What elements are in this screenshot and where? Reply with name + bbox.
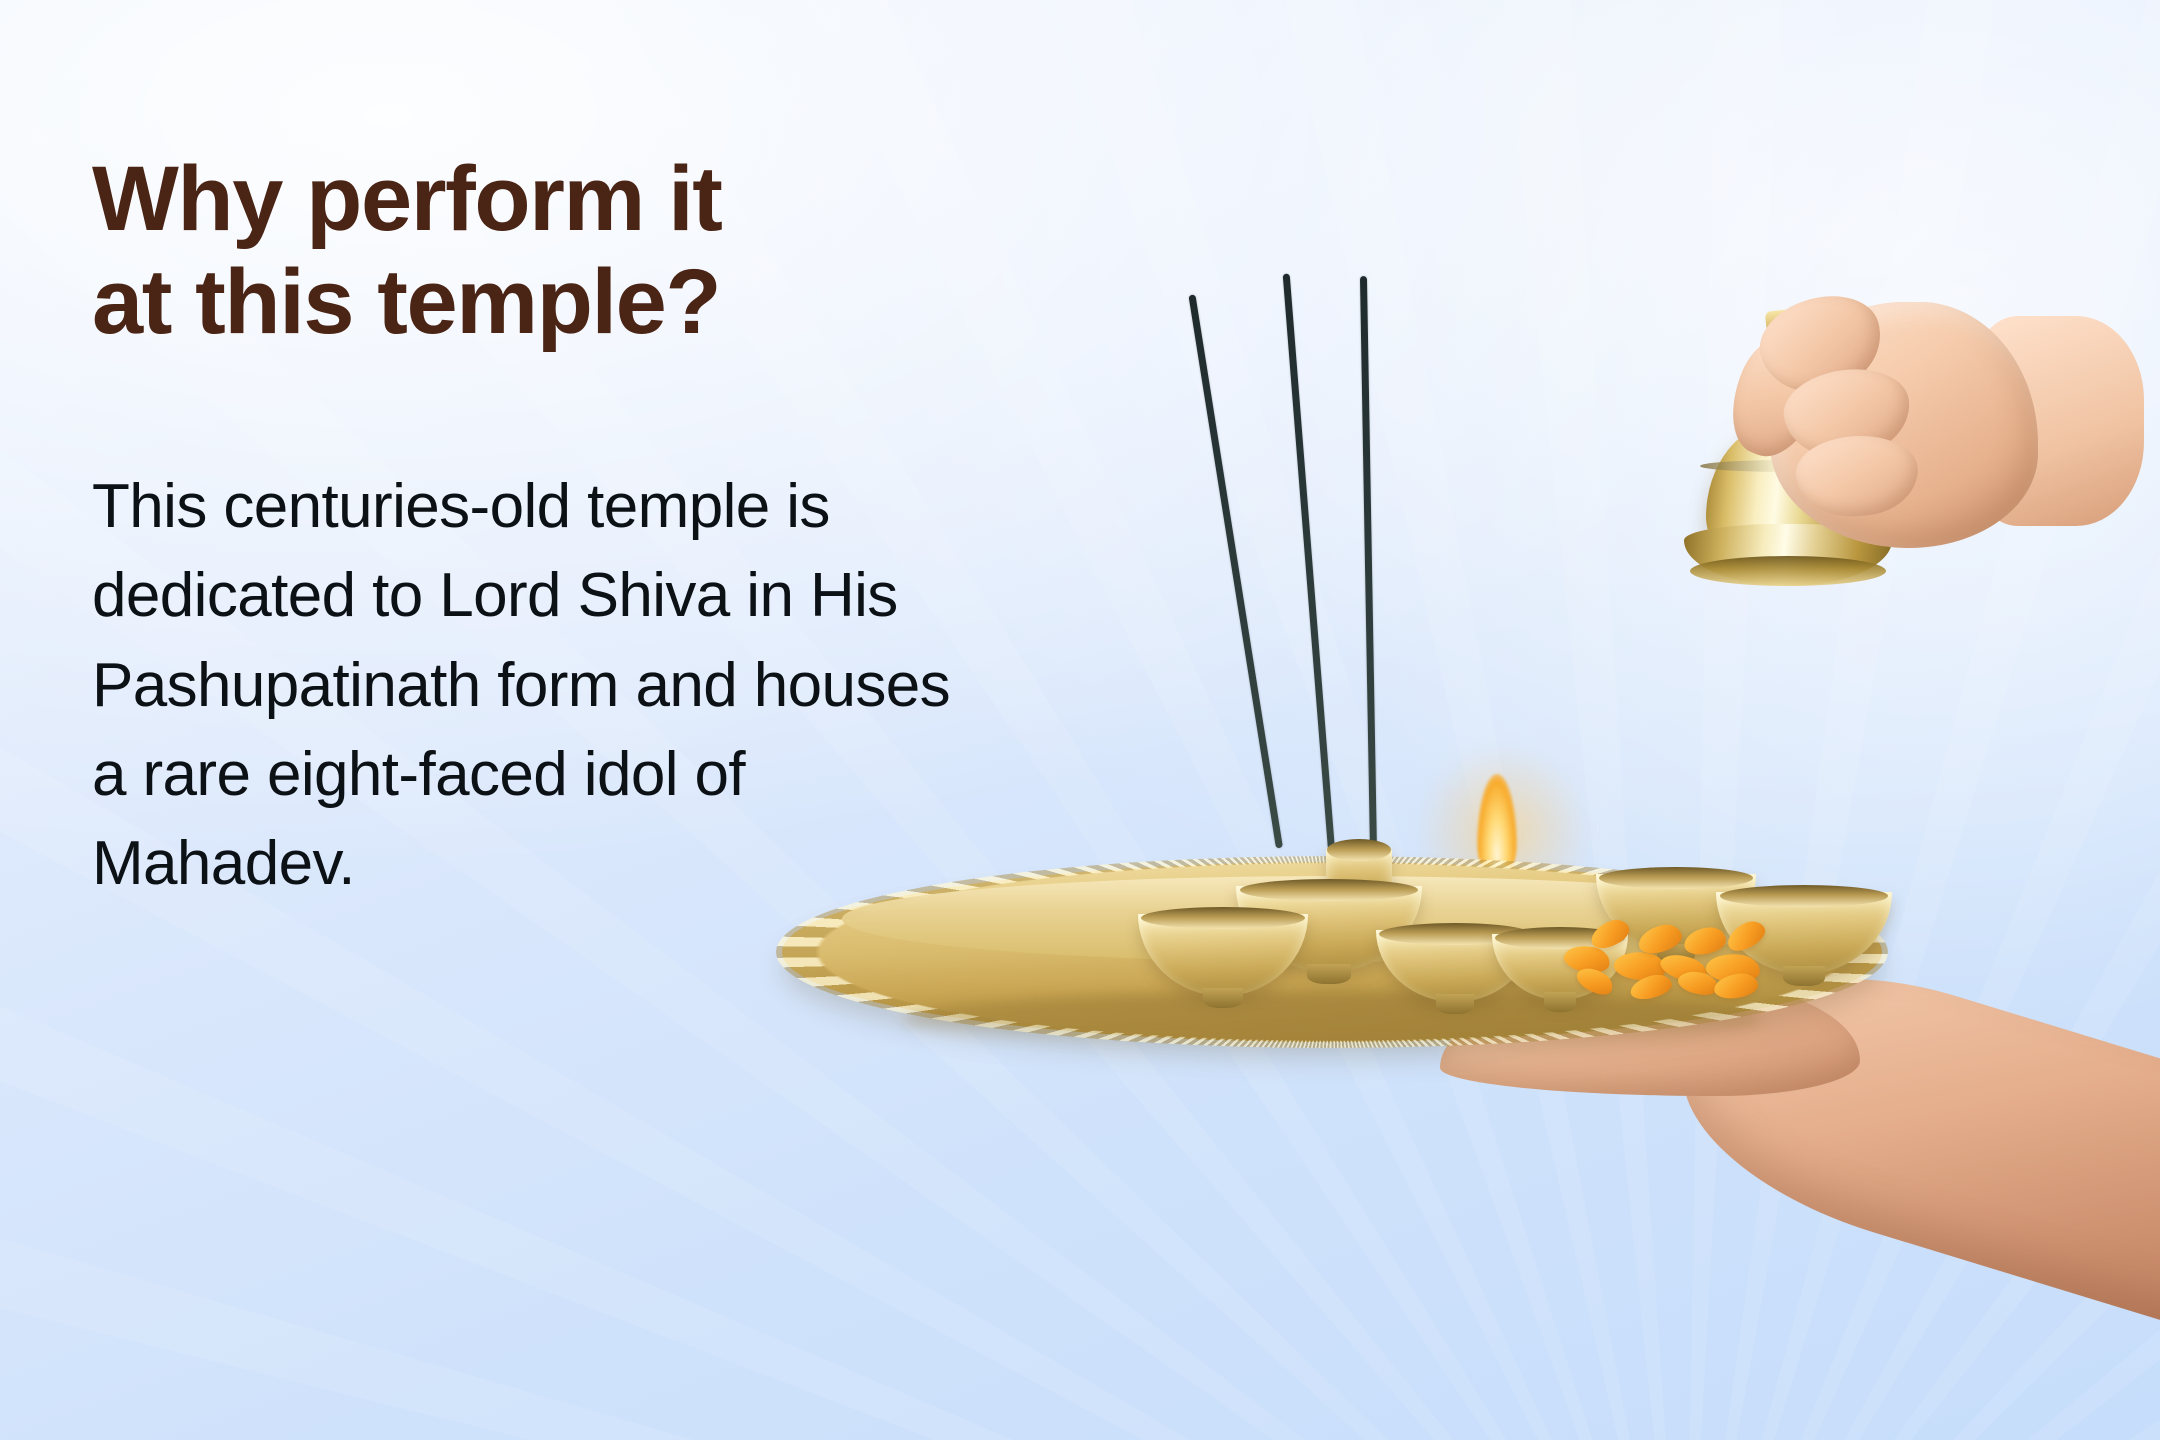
hand-ringing-bell bbox=[1644, 292, 2104, 622]
marigold-petal bbox=[1682, 925, 1727, 957]
incense-stick-icon bbox=[1360, 276, 1377, 852]
thali-shadow bbox=[902, 992, 1762, 1048]
marigold-petal bbox=[1723, 916, 1769, 955]
marigold-petal bbox=[1636, 921, 1685, 957]
bell-lip bbox=[1690, 556, 1886, 586]
body-paragraph: This centuries-old temple is dedicated t… bbox=[92, 462, 972, 908]
incense-stick-icon bbox=[1188, 294, 1283, 848]
page-title: Why perform it at this temple? bbox=[92, 148, 1032, 354]
slide-canvas: Why perform it at this temple? This cent… bbox=[0, 0, 2160, 1440]
puja-photo bbox=[1040, 0, 2160, 1440]
incense-stick-icon bbox=[1283, 274, 1335, 851]
hand-supporting-thali bbox=[1440, 978, 2160, 1440]
marigold-petals-group bbox=[1564, 912, 1774, 1000]
text-column: Why perform it at this temple? This cent… bbox=[92, 148, 1032, 908]
